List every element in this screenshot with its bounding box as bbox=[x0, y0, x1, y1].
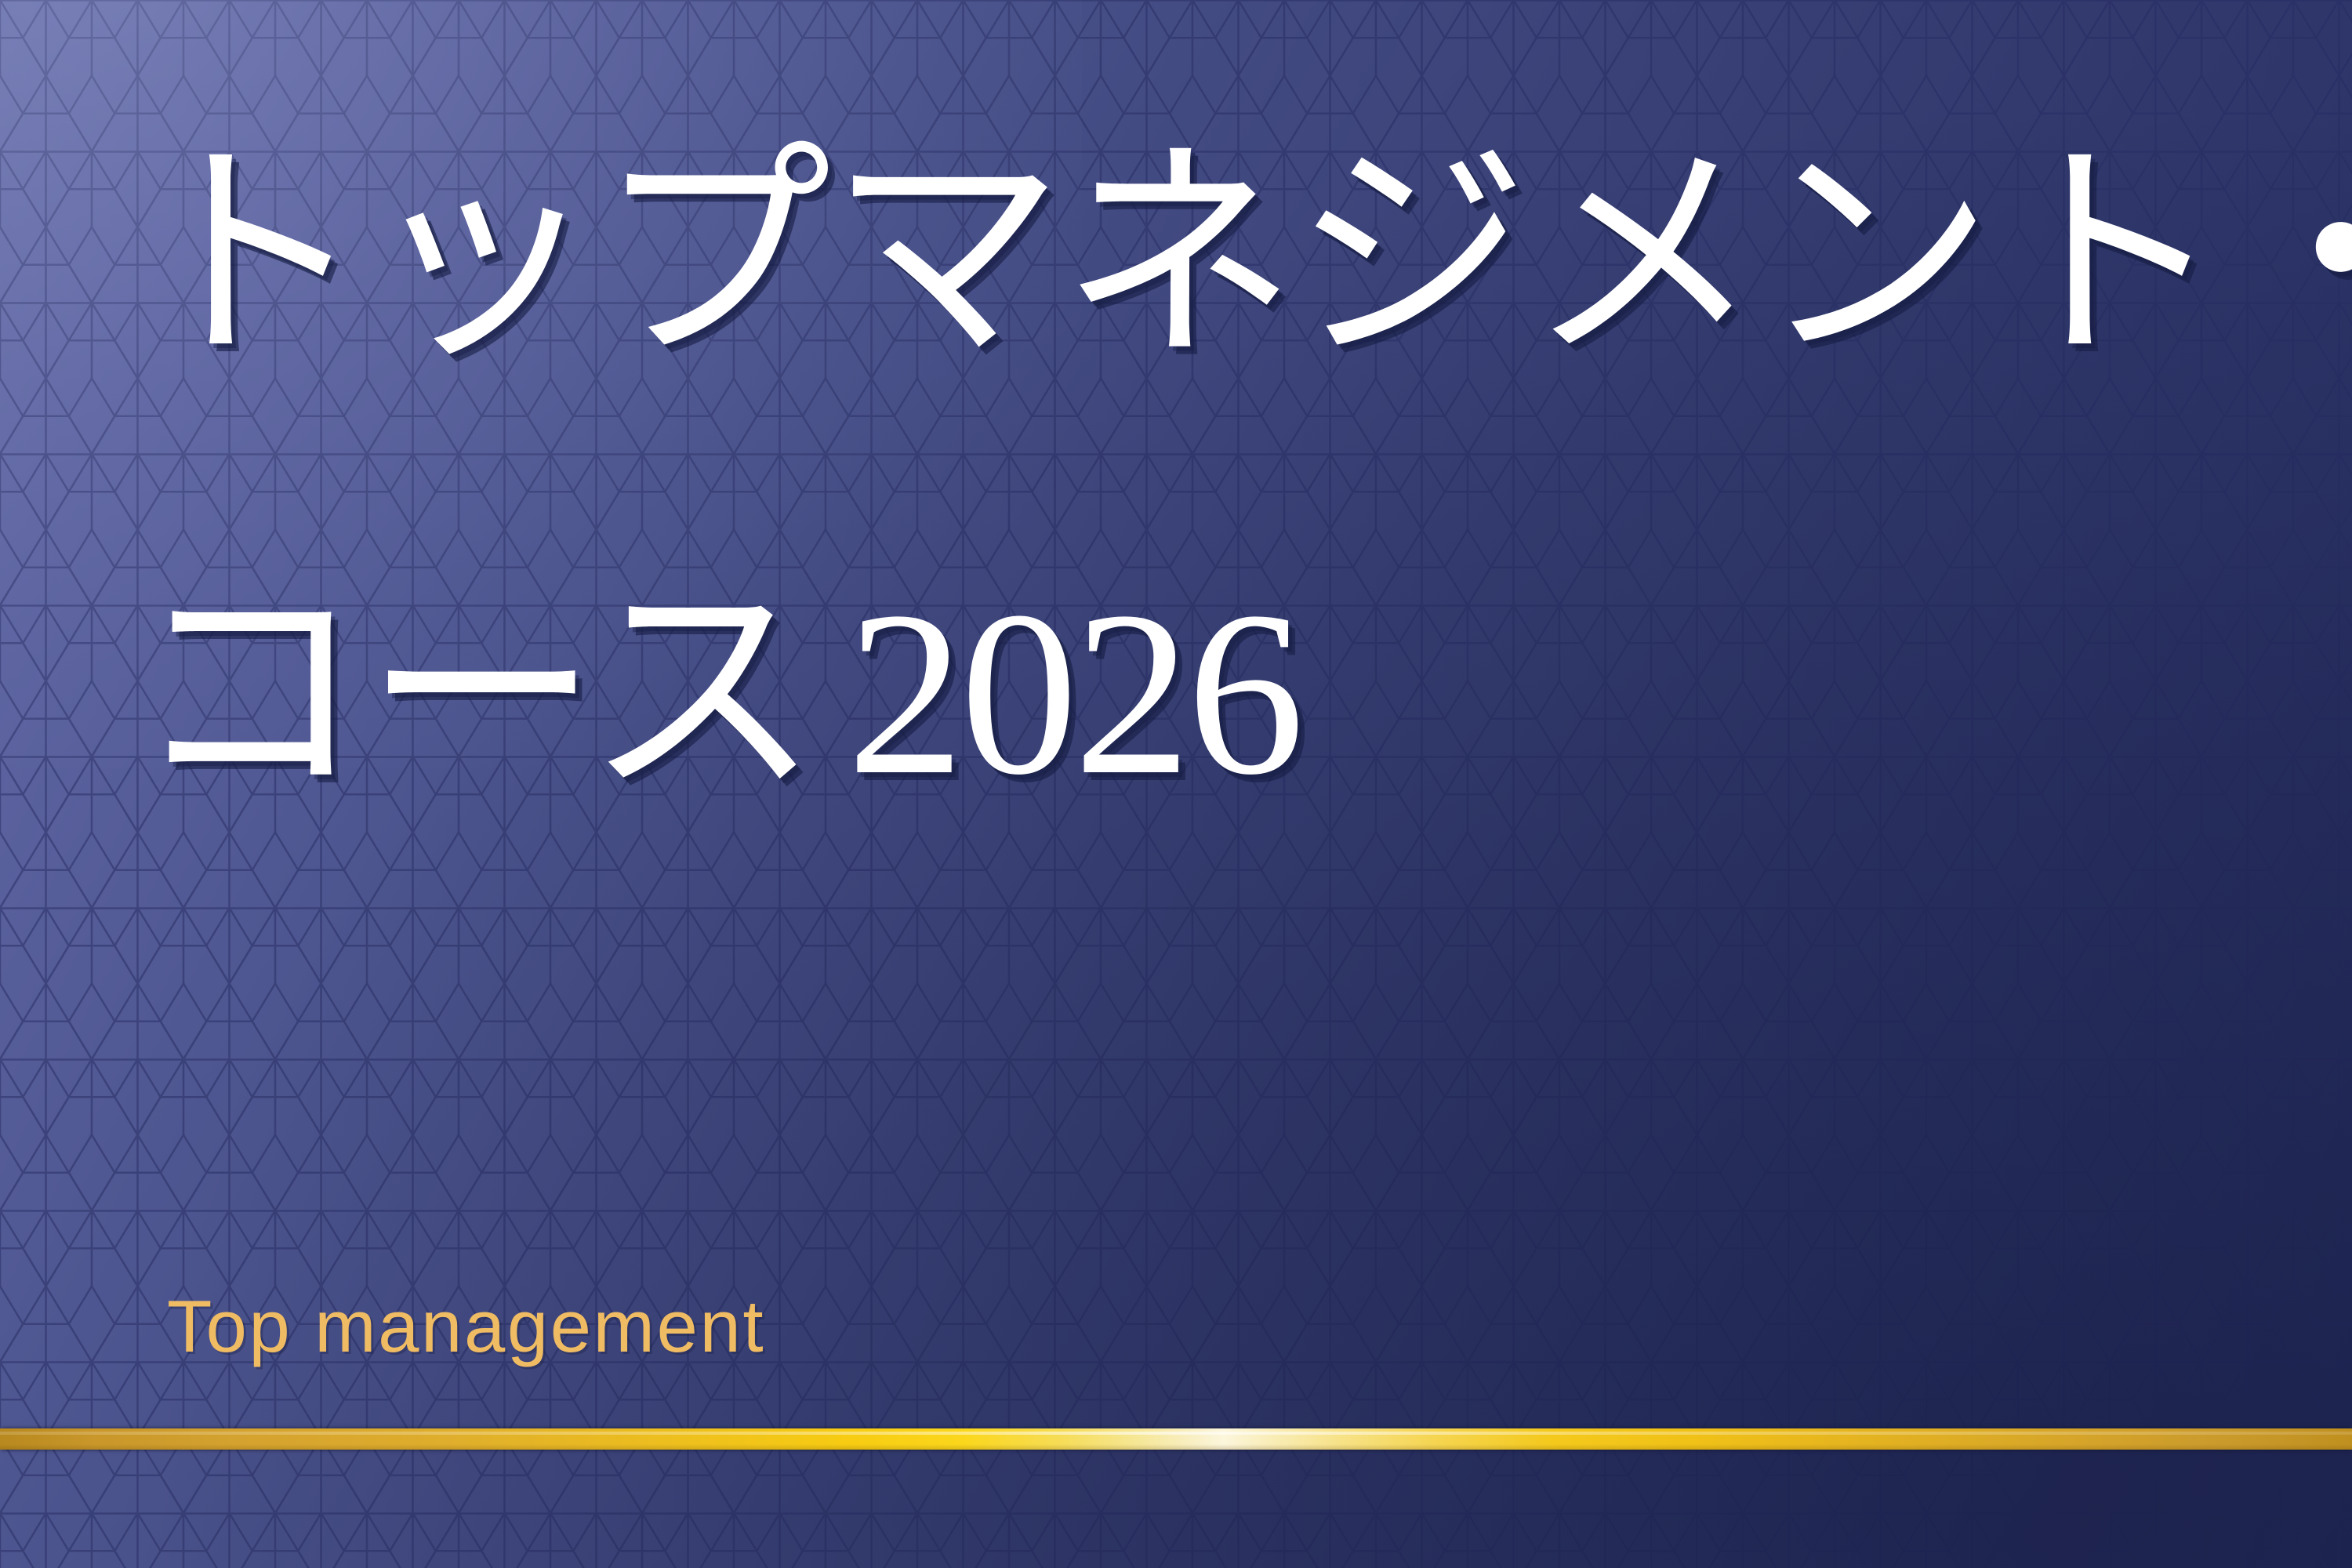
subtitle: Top management bbox=[167, 1287, 765, 1366]
gold-gradient-bar bbox=[0, 1428, 2352, 1450]
page-title-year: 2026 bbox=[817, 563, 1300, 823]
page-title-line-1: トップマネジメント・ bbox=[132, 140, 2352, 375]
page-title-line-2-kana: コース bbox=[132, 563, 817, 823]
title-slide: トップマネジメント・ コース2026 Top management bbox=[0, 0, 2352, 1568]
page-title-line-2: コース2026 bbox=[132, 575, 1301, 811]
